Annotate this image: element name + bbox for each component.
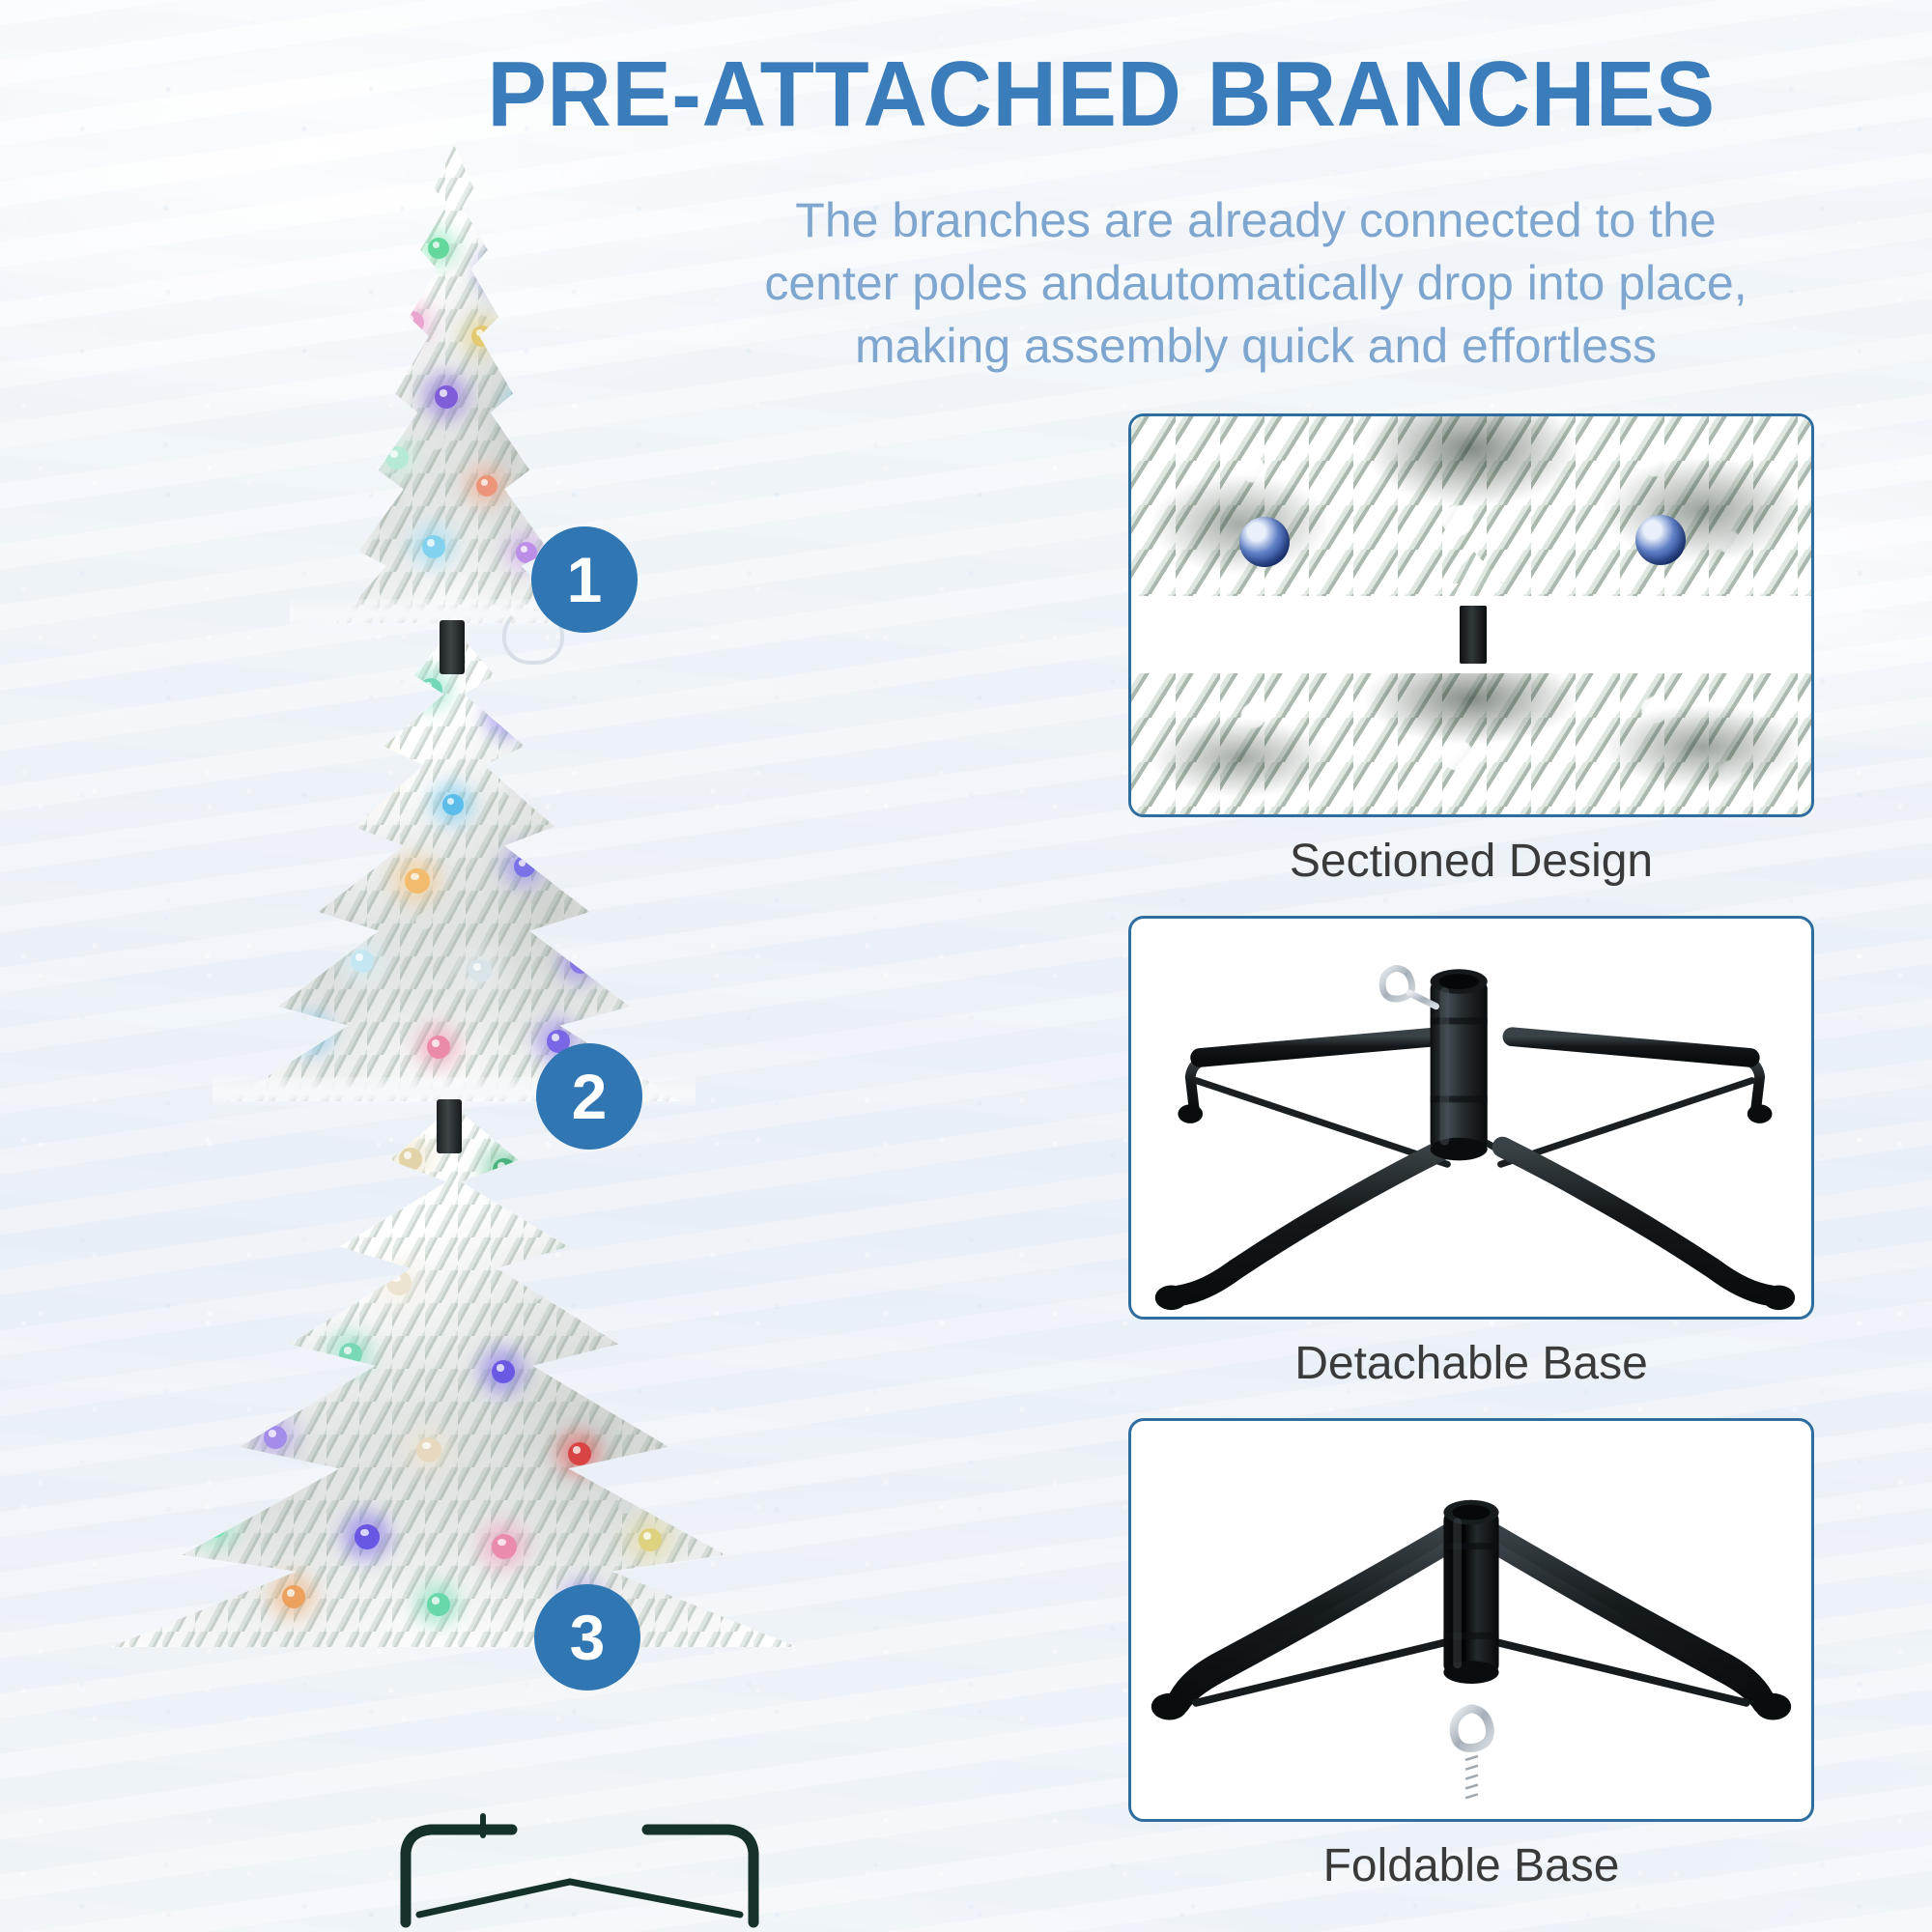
foliage-shadow	[1131, 673, 1811, 814]
tree-canopy-bottom	[97, 1106, 811, 1647]
caption-foldable-base: Foldable Base	[1128, 1843, 1814, 1889]
light-bulb	[316, 843, 339, 867]
light-bulb	[593, 846, 614, 867]
light-bulb	[419, 678, 442, 701]
tree-stand-base	[377, 1777, 782, 1932]
light-bulb	[427, 1036, 450, 1059]
light-glow	[234, 1232, 280, 1278]
step-badge-label: 1	[567, 548, 603, 611]
light-bulb	[476, 475, 497, 497]
light-bulb	[427, 1593, 450, 1616]
page-title: PRE-ATTACHED BRANCHES	[323, 46, 1881, 143]
tree-lights-middle	[203, 628, 705, 1101]
light-bulb	[422, 535, 445, 558]
light-glow	[618, 1342, 663, 1386]
center-pole-connector	[1460, 606, 1487, 664]
light-bulb	[355, 1524, 380, 1549]
light-bulb	[360, 760, 385, 785]
light-glow	[189, 1500, 238, 1548]
light-bulb	[428, 238, 449, 259]
light-bulb	[533, 767, 556, 790]
step-badge-3[interactable]: 3	[534, 1584, 640, 1690]
center-pole-connector	[440, 620, 465, 674]
light-bulb	[562, 1263, 585, 1286]
center-pole-connector	[437, 1099, 462, 1153]
light-bulb	[185, 1323, 208, 1347]
light-glow	[582, 835, 624, 877]
light-bulb	[385, 446, 409, 469]
tree-lights-bottom	[97, 1106, 811, 1647]
light-bulb	[386, 1270, 412, 1295]
infographic-canvas: PRE-ATTACHED BRANCHES The branches are a…	[0, 0, 1932, 1932]
panel-foldable-base	[1128, 1418, 1814, 1822]
light-glow	[503, 386, 546, 429]
light-glow	[676, 1425, 721, 1469]
light-bulb	[492, 1534, 517, 1559]
light-glow	[389, 299, 434, 344]
light-bulb	[442, 794, 464, 815]
light-glow	[290, 1012, 332, 1055]
light-bulb	[416, 1437, 441, 1463]
light-glow	[485, 696, 527, 738]
light-bulb	[514, 856, 535, 877]
light-bulb	[497, 707, 518, 728]
blue-ornament	[1239, 517, 1290, 567]
light-bulb	[246, 1244, 270, 1267]
light-bulb	[282, 1585, 305, 1608]
light-bulb	[401, 311, 424, 334]
light-bulb	[570, 952, 591, 974]
light-bulb	[639, 1528, 662, 1551]
detachable-base-illustration	[1131, 919, 1811, 1317]
light-bulb	[492, 1360, 515, 1383]
step-badge-label: 2	[572, 1065, 608, 1128]
light-bulb	[264, 1426, 287, 1449]
tree-photo: 1	[58, 145, 889, 1893]
caption-detachable-base: Detachable Base	[1128, 1341, 1814, 1387]
panel-sectioned-design	[1128, 413, 1814, 817]
light-glow	[522, 755, 566, 800]
light-bulb	[688, 1436, 711, 1460]
light-bulb	[399, 1148, 422, 1171]
light-bulb	[435, 385, 458, 409]
step-badge-label: 3	[570, 1605, 606, 1669]
light-glow	[481, 1147, 526, 1191]
light-bulb	[317, 1183, 340, 1207]
light-glow	[551, 1251, 595, 1295]
caption-sectioned-design: Sectioned Design	[1128, 838, 1814, 885]
light-glow	[478, 251, 521, 294]
light-bulb	[351, 950, 374, 973]
light-bulb	[489, 262, 512, 285]
light-bulb	[469, 959, 492, 982]
light-glow	[305, 1172, 350, 1216]
light-bulb	[339, 1343, 362, 1366]
tree-canopy-middle	[203, 628, 705, 1101]
tree-section-photo-lower	[1131, 673, 1811, 814]
light-glow	[172, 1311, 218, 1357]
foldable-base-illustration	[1131, 1421, 1811, 1819]
light-bulb	[515, 398, 536, 419]
light-glow	[303, 831, 350, 877]
light-glow	[348, 748, 396, 796]
light-bulb	[630, 1353, 653, 1377]
step-badge-2[interactable]: 2	[536, 1043, 642, 1150]
light-bulb	[568, 1442, 591, 1465]
step-badge-1[interactable]: 1	[531, 526, 638, 633]
light-glow	[461, 315, 501, 355]
blue-ornament	[1635, 515, 1686, 565]
light-bulb	[493, 1158, 516, 1181]
light-bulb	[202, 1513, 227, 1538]
light-bulb	[405, 868, 430, 894]
light-bulb	[301, 1024, 323, 1045]
light-bulb	[471, 326, 493, 347]
light-glow	[558, 941, 601, 983]
panel-detachable-base	[1128, 916, 1814, 1320]
